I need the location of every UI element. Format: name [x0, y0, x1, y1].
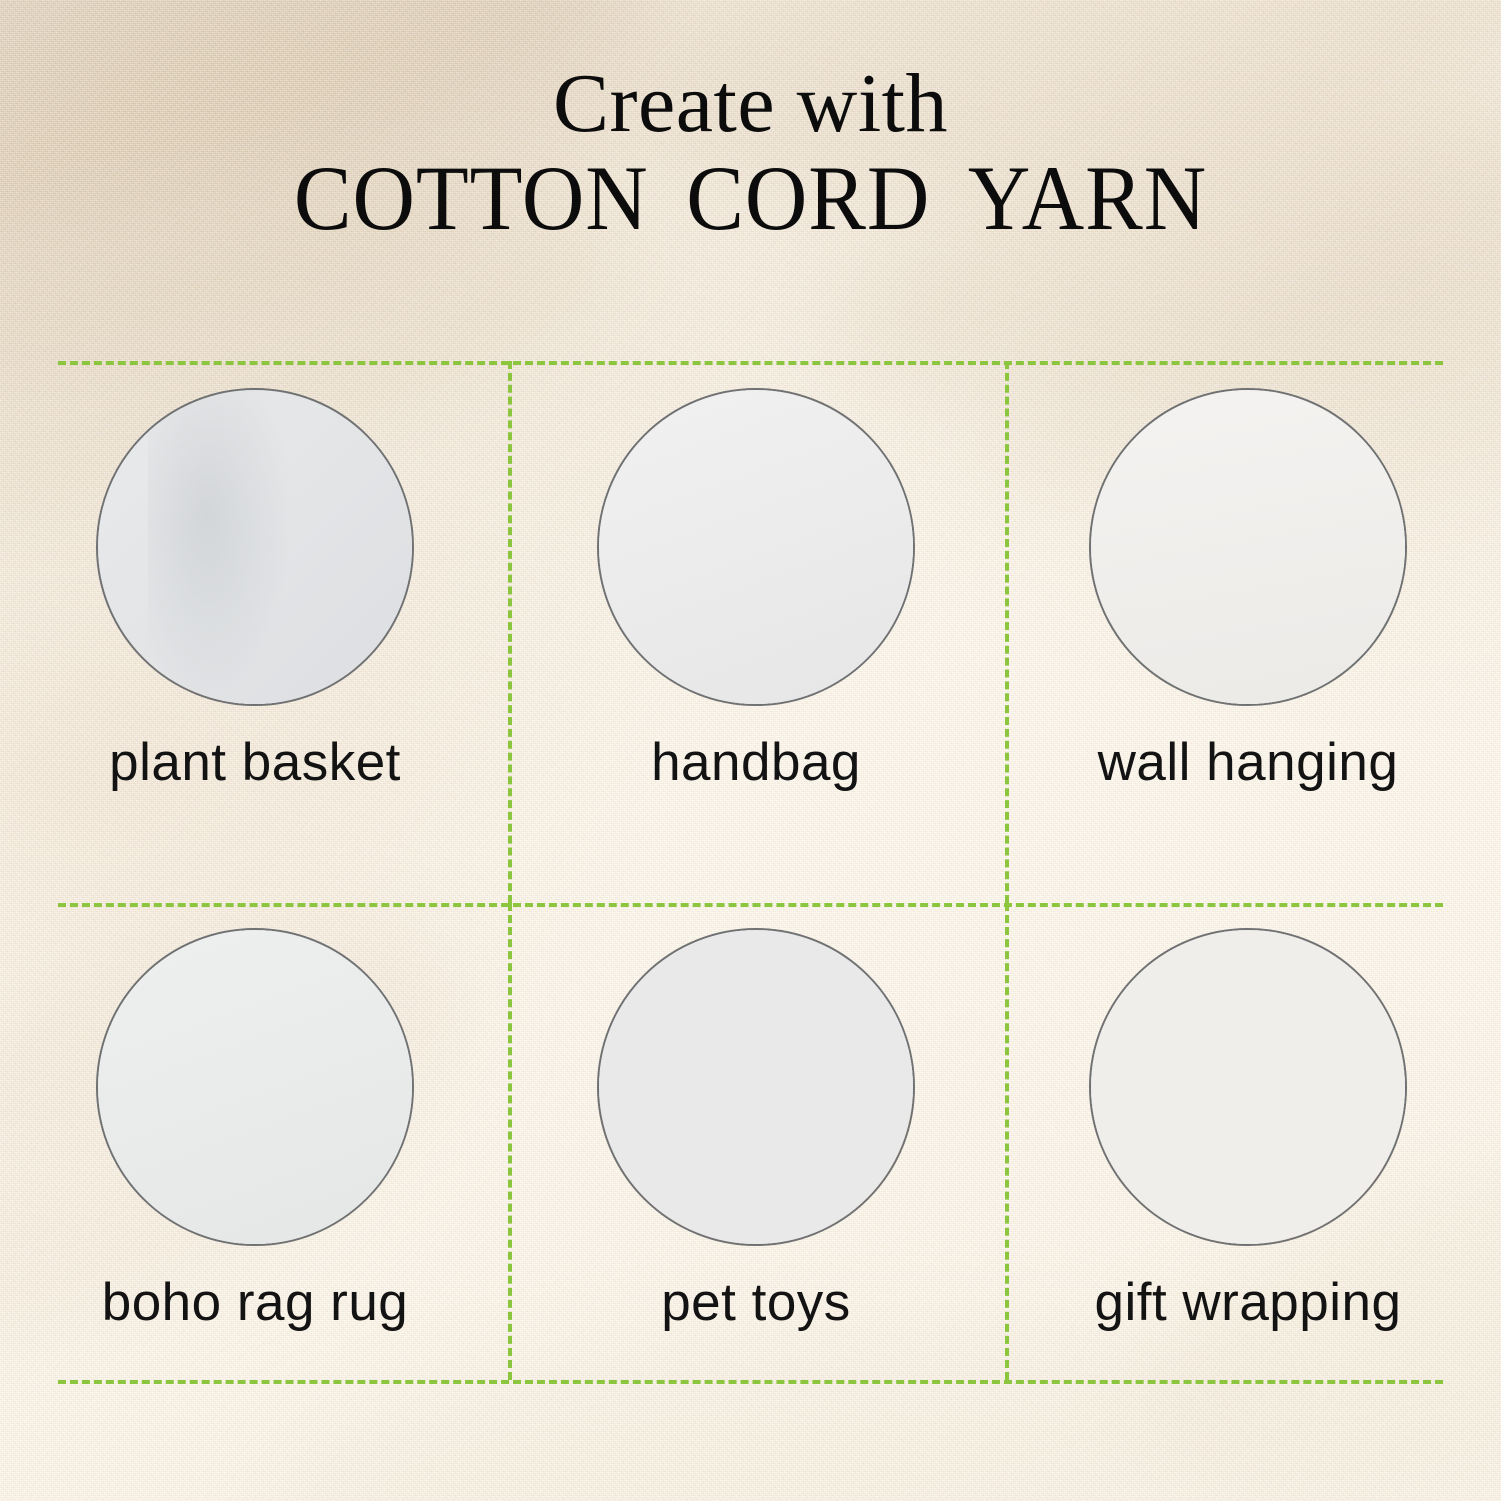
- grid-cell-gift-wrapping[interactable]: gift wrapping: [1089, 928, 1407, 1333]
- cell-label-wall-hanging: wall hanging: [1098, 732, 1399, 793]
- cell-label-gift-wrapping: gift wrapping: [1094, 1272, 1401, 1333]
- cell-label-handbag: handbag: [651, 732, 861, 793]
- grid-cell-plant-basket[interactable]: plant basket: [96, 388, 414, 793]
- macrame-wall-hanging-photo: [1089, 388, 1407, 706]
- page-title: Create with COTTONCORDYARN: [0, 62, 1501, 246]
- macrame-plant-hanger-photo: [96, 388, 414, 706]
- grid-cell-boho-rag-rug[interactable]: boho rag rug: [96, 928, 414, 1333]
- dog-rope-toy-photo: [597, 928, 915, 1246]
- crochet-handbag-photo: [597, 388, 915, 706]
- crochet-round-rug-photo: [96, 928, 414, 1246]
- grid-cell-handbag[interactable]: handbag: [597, 388, 915, 793]
- grid-cell-wall-hanging[interactable]: wall hanging: [1089, 388, 1407, 793]
- title-word-yarn: YARN: [968, 147, 1207, 249]
- cell-label-boho-rag-rug: boho rag rug: [102, 1272, 409, 1333]
- title-word-cotton: COTTON: [294, 147, 649, 249]
- title-line-2: COTTONCORDYARN: [45, 152, 1456, 246]
- title-word-cord: CORD: [686, 147, 930, 249]
- grid-cell-pet-toys[interactable]: pet toys: [597, 928, 915, 1333]
- poster-canvas: Create with COTTONCORDYARN: [0, 0, 1501, 1501]
- title-line-1: Create with: [0, 62, 1501, 146]
- cell-label-plant-basket: plant basket: [109, 732, 401, 793]
- pompom-gift-wrap-photo: [1089, 928, 1407, 1246]
- cell-label-pet-toys: pet toys: [661, 1272, 851, 1333]
